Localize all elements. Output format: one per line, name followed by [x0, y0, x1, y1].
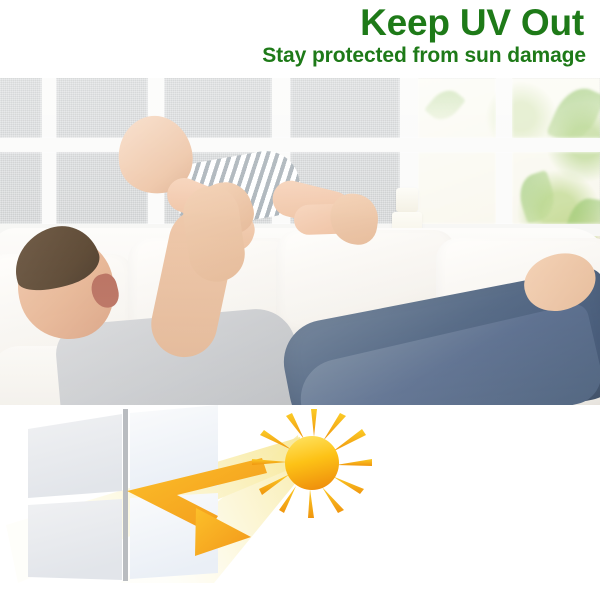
- page-subtitle: Stay protected from sun damage: [262, 43, 586, 68]
- lifestyle-photo: [0, 78, 600, 405]
- window-mullion-vertical: [123, 409, 128, 581]
- header-banner: Keep UV Out Stay protected from sun dama…: [0, 0, 600, 78]
- uv-diagram-svg: [0, 405, 600, 593]
- page-title: Keep UV Out: [360, 2, 584, 43]
- promo-image-root: Keep UV Out Stay protected from sun dama…: [0, 0, 600, 593]
- window-pane-top-left: [28, 414, 122, 498]
- uv-blocking-illustration: Blocks up to 96% of UV rays: [0, 405, 600, 593]
- table-lamp-icon: [396, 188, 418, 212]
- sun-icon: [285, 436, 339, 490]
- window-pane-bottom-left: [28, 499, 122, 580]
- window-mullion-horizontal: [0, 138, 600, 152]
